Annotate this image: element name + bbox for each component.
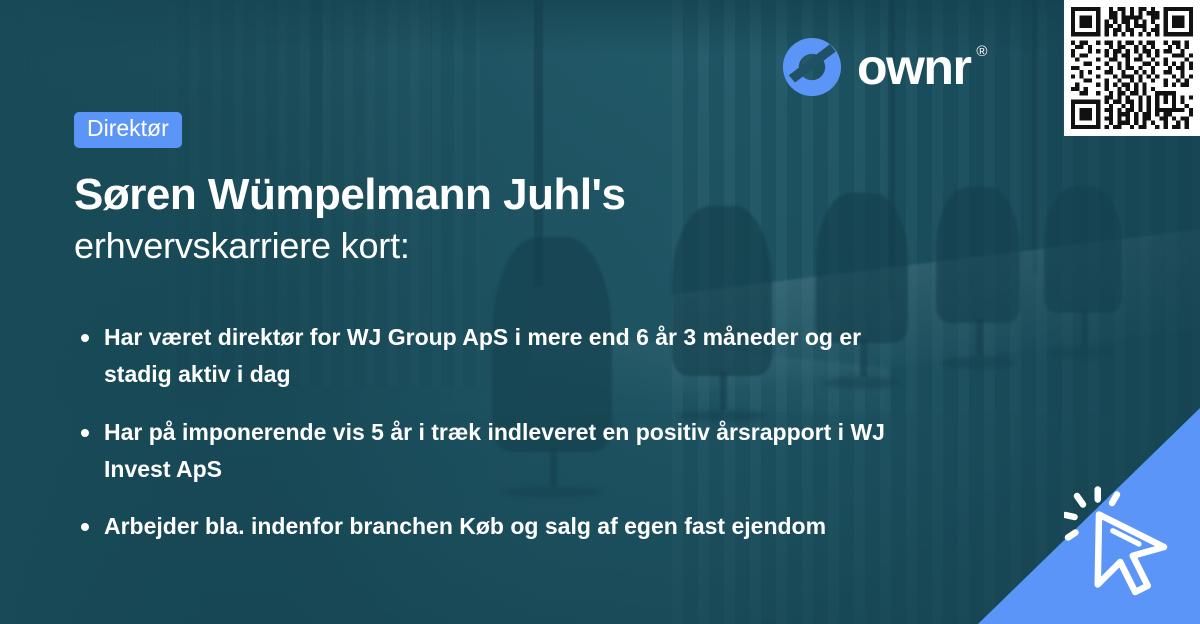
brand-wordmark-text: ownr [857,39,970,95]
ownr-circle-swoosh-icon [781,36,843,98]
qr-code-icon [1071,7,1193,129]
brand-lockup[interactable]: ownr ® [781,36,970,98]
list-item: Arbejder bla. indenfor branchen Køb og s… [74,508,904,545]
list-item: Har været direktør for WJ Group ApS i me… [74,319,904,394]
qr-code-panel[interactable] [1064,0,1200,136]
list-item: Har på imponerende vis 5 år i træk indle… [74,414,904,489]
page-subtitle: erhvervskarriere kort: [74,224,954,267]
card-content: Direktør Søren Wümpelmann Juhl's erhverv… [74,112,954,565]
click-cursor-icon [1064,482,1184,602]
role-badge: Direktør [74,112,182,148]
brand-wordmark: ownr ® [857,42,970,92]
career-facts-list: Har været direktør for WJ Group ApS i me… [74,319,954,545]
person-name: Søren Wümpelmann Juhl's [74,170,954,220]
page-title: Søren Wümpelmann Juhl's erhvervskarriere… [74,170,954,267]
career-card: ownr ® [0,0,1200,624]
registered-trademark-symbol: ® [976,44,987,59]
